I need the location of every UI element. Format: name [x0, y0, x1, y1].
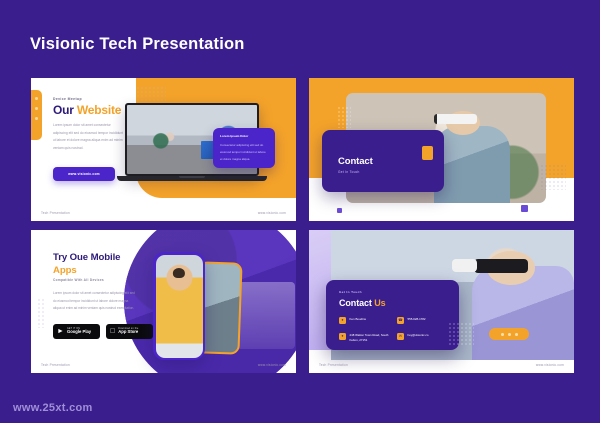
- headline-part-1: Contact: [339, 298, 374, 308]
- slide4-footer-right: www.visionic.com: [536, 363, 564, 367]
- watermark: www.25xt.com: [13, 402, 93, 414]
- laptop-base: [117, 176, 267, 181]
- apple-icon: : [110, 328, 115, 335]
- presentation-preview: Visionic Tech Presentation Device Meetup…: [0, 0, 600, 423]
- badge-store-name: App Store: [118, 330, 138, 335]
- slide1-body: Lorem ipsum dolor sit amet consectetur a…: [53, 122, 123, 152]
- slide4-eyebrow: Get In Touch: [339, 290, 362, 294]
- orange-tag-decoration: [422, 146, 433, 160]
- badge-store-name: Google Play: [67, 330, 91, 335]
- contact-item[interactable]: ✉ hey@visionic.co: [397, 333, 450, 343]
- headline-part-1: Our: [53, 103, 77, 117]
- dot-grid-decoration: [37, 298, 45, 328]
- google-play-icon: ►: [57, 328, 64, 335]
- square-decoration-1: [337, 208, 342, 213]
- app-store-badge[interactable]:  Download on the App Store: [106, 324, 153, 339]
- google-play-badge[interactable]: ► GET IT ON Google Play: [53, 324, 100, 339]
- slide3-subtitle: Compatible With All Devices: [53, 278, 104, 282]
- dot-grid-decoration: [337, 106, 351, 128]
- person-body: [434, 126, 510, 203]
- dot-grid-decoration: [448, 322, 474, 346]
- slide1-eyebrow: Device Meetup: [53, 97, 82, 101]
- contact-item-text: 555-628-1782: [408, 317, 426, 322]
- slide1-footer-left: Tech Presentation: [41, 211, 70, 215]
- contact-item-text: 248 Walton Town Road, South Kelton, 2715…: [350, 333, 393, 343]
- orange-pill-decoration: [489, 328, 529, 340]
- slide4-title: Contact Us: [339, 298, 386, 308]
- contact-item-text: Ken Boudins: [350, 317, 366, 322]
- vr-headset-icon: [434, 114, 477, 124]
- contact-item[interactable]: ● 248 Walton Town Road, South Kelton, 27…: [339, 333, 392, 343]
- headline-part-2: Us: [374, 298, 385, 308]
- slide1-headline: Our Website: [53, 103, 121, 117]
- contact-item-text: hey@visionic.co: [408, 333, 429, 338]
- slide-contact[interactable]: Contact Get In Touch: [309, 78, 574, 221]
- phone-icon: ☎: [397, 317, 404, 324]
- callout-title: Lorem Ipsum Dolor: [220, 134, 268, 138]
- contact-item[interactable]: ● Ken Boudins: [339, 317, 392, 324]
- contact-details-card: Get In Touch Contact Us ● Ken Boudins ☎ …: [326, 280, 459, 350]
- slide4-footer-left: Tech Presentation: [319, 363, 348, 367]
- phone-front-screen: [156, 255, 203, 358]
- vr-headset-icon: [474, 259, 527, 273]
- slide-grid: Device Meetup Our Website Lorem ipsum do…: [31, 78, 574, 373]
- slide1-cta-button[interactable]: www.visionic.com: [53, 167, 115, 181]
- square-decoration-2: [521, 205, 528, 212]
- dot-grid-decoration-2: [540, 164, 566, 190]
- slide3-footer-right: www.visionic.com: [258, 363, 286, 367]
- slide-our-website[interactable]: Device Meetup Our Website Lorem ipsum do…: [31, 78, 296, 221]
- phone-mockup-front: [153, 252, 205, 360]
- headline-part-2: Website: [77, 103, 121, 117]
- slide-mobile-apps[interactable]: Try Oue Mobile Apps Compatible With All …: [31, 230, 296, 373]
- user-icon: ●: [339, 317, 346, 324]
- contact-card: Contact Get In Touch: [322, 130, 444, 192]
- contact-item[interactable]: ☎ 555-628-1782: [397, 317, 450, 324]
- slide3-footer-left: Tech Presentation: [41, 363, 70, 367]
- callout-body: Consectetur adipiscing elit sed do eiusm…: [220, 142, 268, 163]
- slide-contact-us[interactable]: Get In Touch Contact Us ● Ken Boudins ☎ …: [309, 230, 574, 373]
- slide3-headline: Try Oue Mobile Apps: [53, 252, 120, 278]
- slide3-body: Lorem ipsum dolor sit amet consectetur a…: [53, 290, 135, 313]
- slide1-footer-right: www.visionic.com: [258, 211, 286, 215]
- page-title: Visionic Tech Presentation: [30, 35, 245, 54]
- slide2-title: Contact: [338, 156, 373, 167]
- mail-icon: ✉: [397, 333, 404, 340]
- headline-part-2: Apps: [53, 265, 77, 276]
- headline-part-1: Try Oue Mobile: [53, 252, 120, 263]
- contact-items: ● Ken Boudins ☎ 555-628-1782 ● 248 Walto…: [339, 317, 450, 343]
- store-badges: ► GET IT ON Google Play  Download on th…: [53, 324, 153, 339]
- location-icon: ●: [339, 333, 346, 340]
- slide1-callout-card: Lorem Ipsum Dolor Consectetur adipiscing…: [213, 128, 275, 168]
- slide2-subtitle: Get In Touch: [338, 170, 360, 174]
- side-tab-decoration: [31, 90, 42, 140]
